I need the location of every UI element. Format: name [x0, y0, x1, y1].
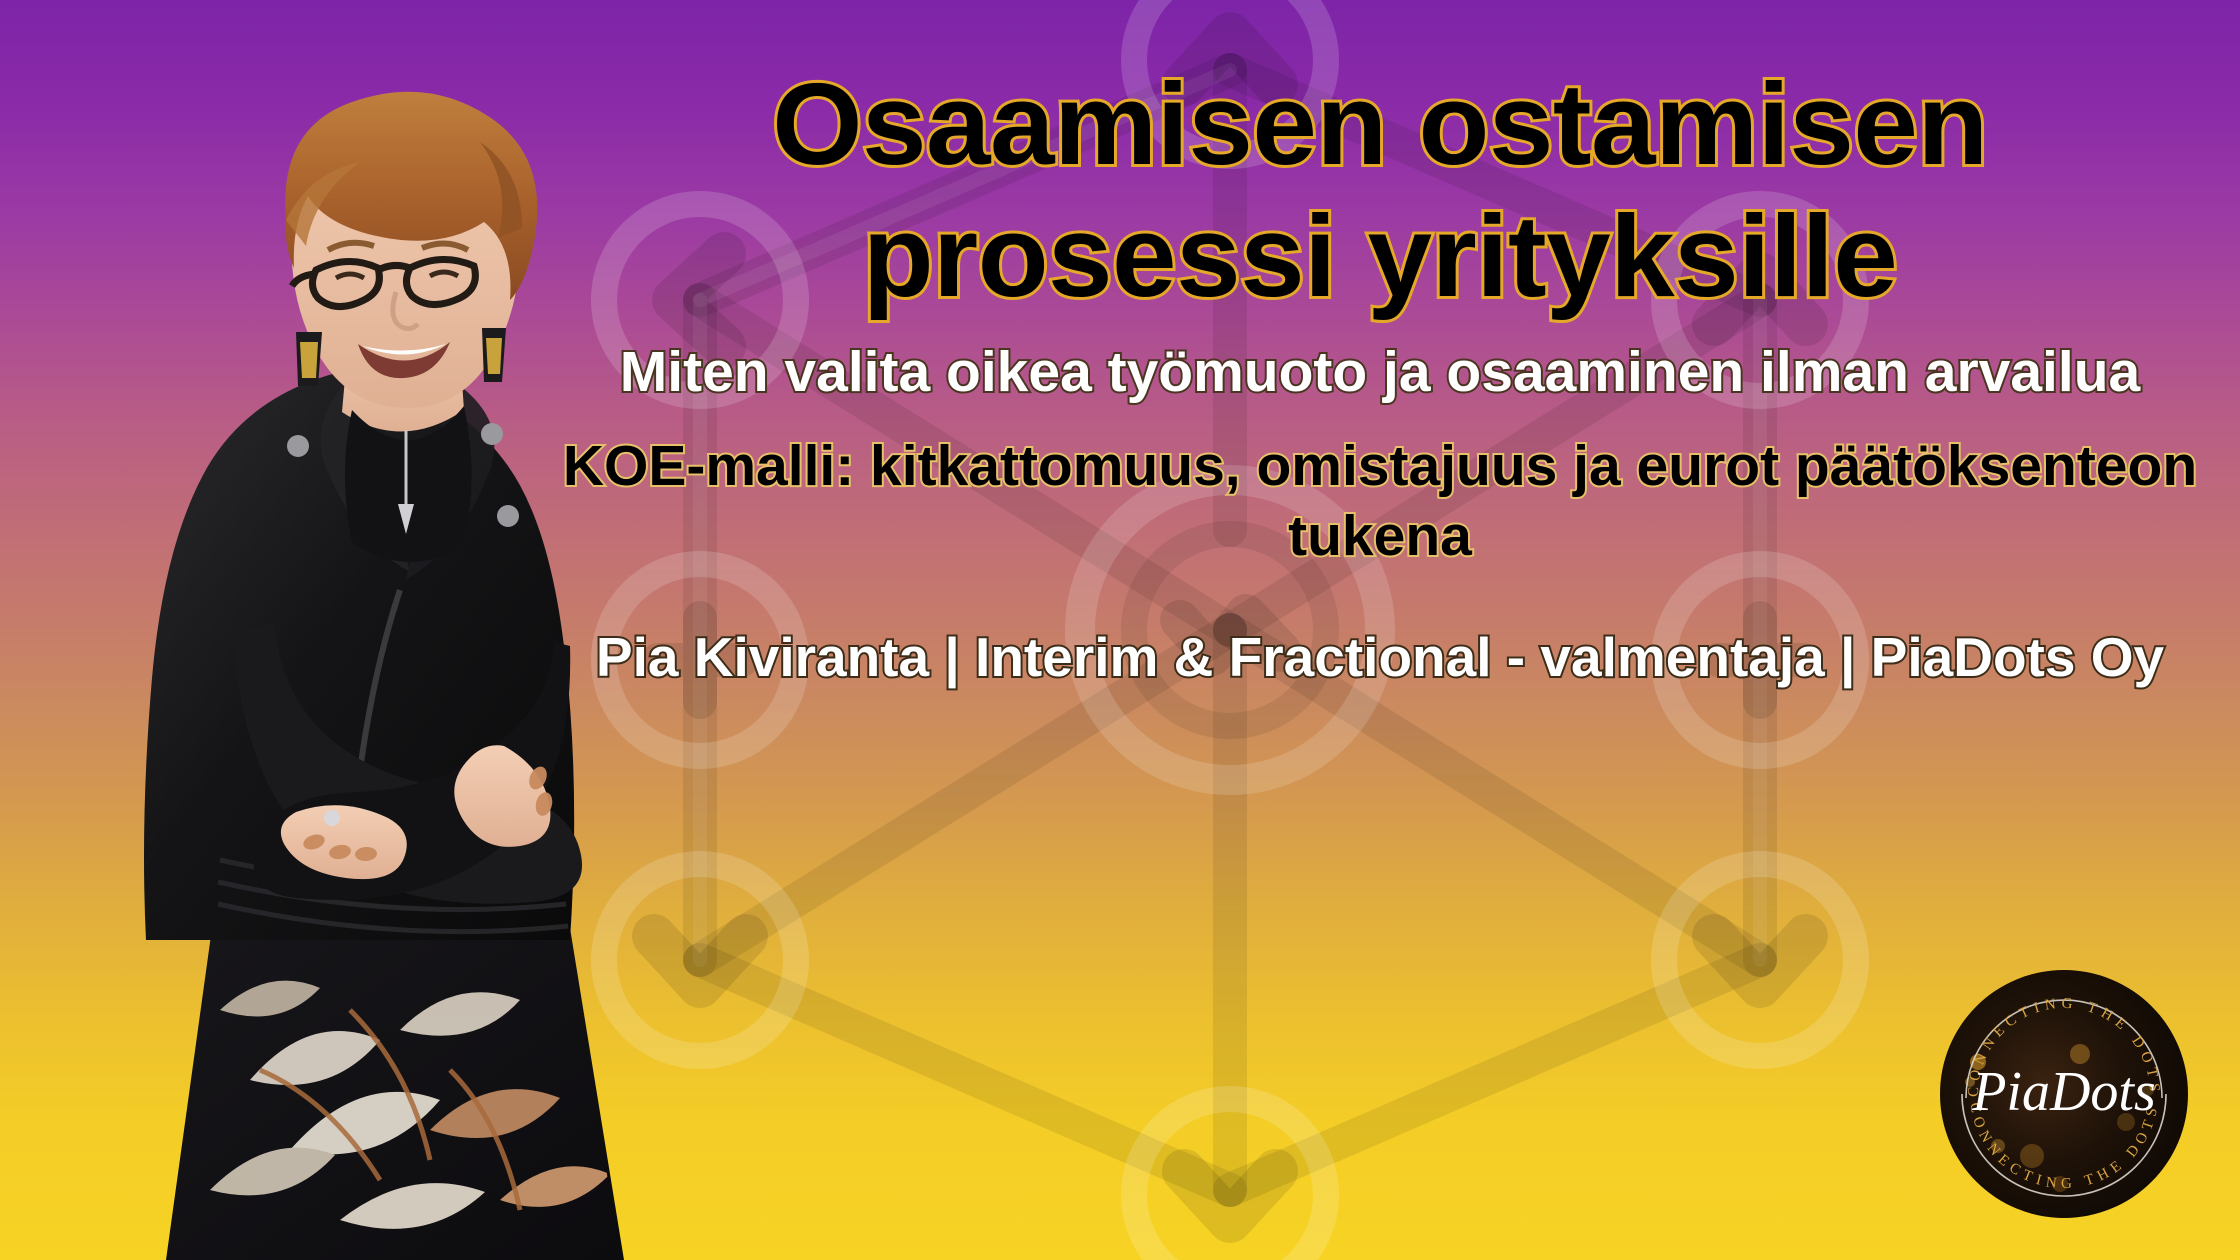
piadots-logo: CONNECTING THE DOTS CONNECTING THE DOTS …: [1940, 970, 2188, 1218]
presenter-skirt: [166, 928, 624, 1260]
title-line-1: Osaamisen ostamisen: [772, 59, 1988, 189]
slide-text-block: Osaamisen ostamisen prosessi yrityksille…: [560, 58, 2200, 691]
presenter-head: [285, 92, 537, 408]
page-title: Osaamisen ostamisen prosessi yrityksille: [560, 58, 2200, 322]
title-line-2: prosessi yrityksille: [863, 191, 1898, 321]
subtitle-secondary: KOE-malli: kitkattomuus, omistajuus ja e…: [560, 432, 2200, 571]
presenter-arms: [232, 624, 582, 904]
presenter-jacket: [144, 370, 574, 940]
presentation-slide: Osaamisen ostamisen prosessi yrityksille…: [0, 0, 2240, 1260]
presenter-credit: Pia Kiviranta | Interim & Fractional - v…: [560, 623, 2200, 691]
logo-wordmark: PiaDots: [1971, 1061, 2156, 1123]
subtitle-primary: Miten valita oikea työmuoto ja osaaminen…: [560, 338, 2200, 408]
earrings: [296, 328, 506, 386]
